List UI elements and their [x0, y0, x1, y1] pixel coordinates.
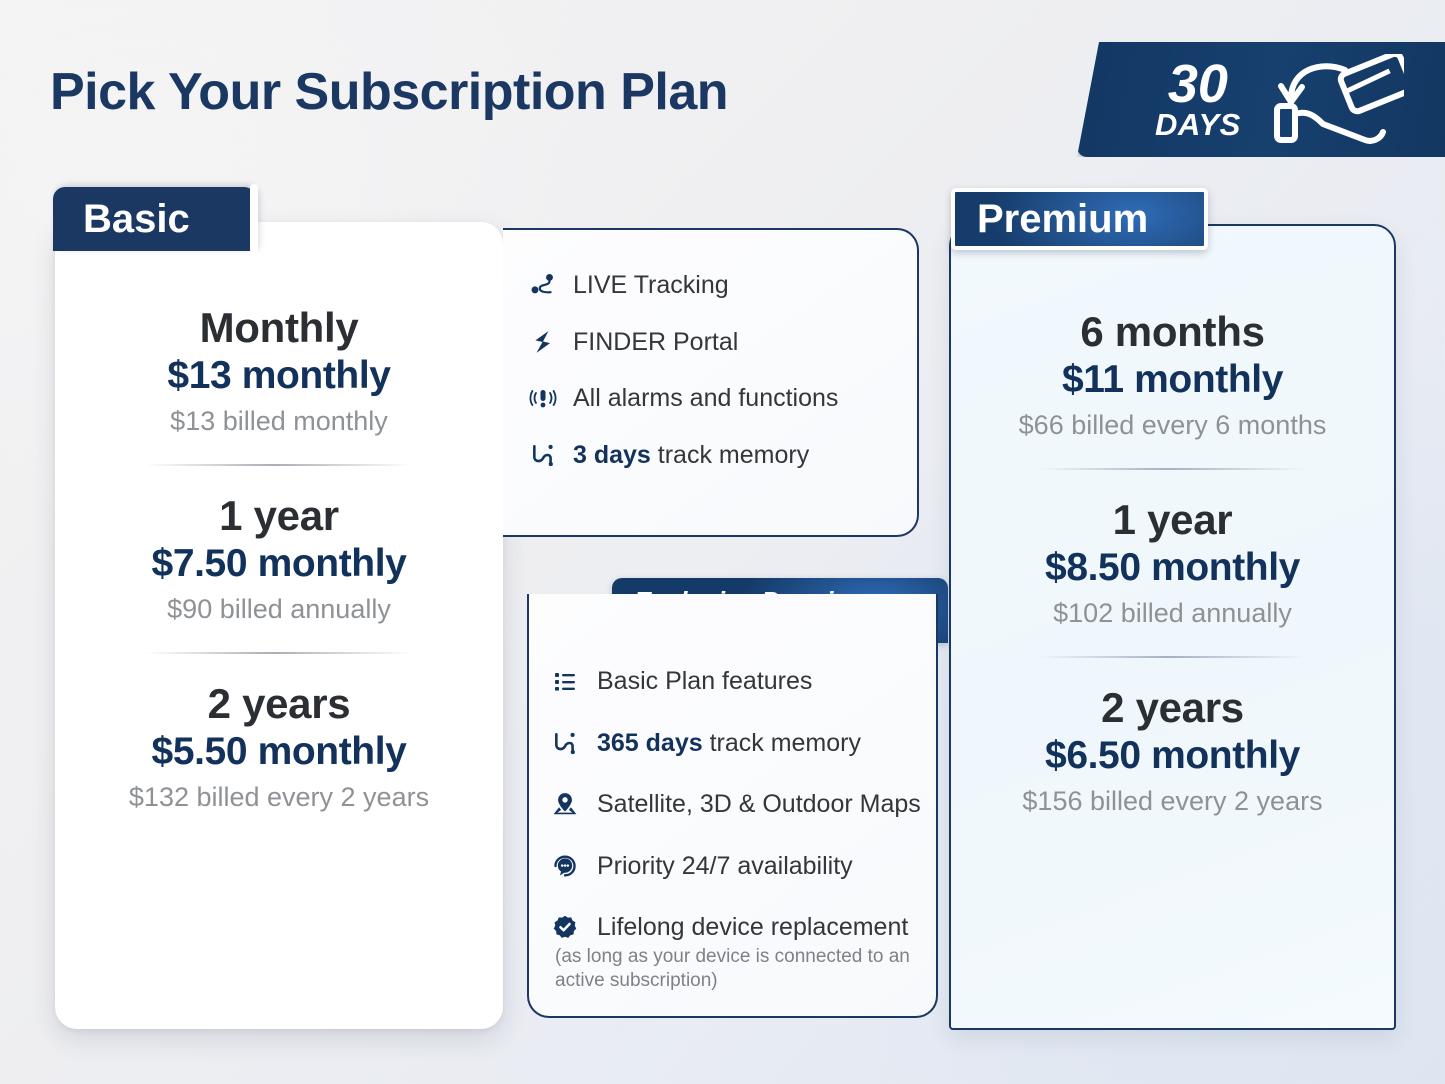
- tier-term: Monthly: [73, 304, 485, 352]
- feature-label: All alarms and functions: [573, 383, 838, 414]
- feature-label: Satellite, 3D & Outdoor Maps: [597, 789, 921, 820]
- basic-tier-1-year[interactable]: 1 year $7.50 monthly $90 billed annually: [55, 492, 503, 626]
- tier-price: $11 monthly: [969, 356, 1376, 404]
- tier-billed-note: $102 billed annually: [969, 597, 1376, 629]
- tier-price: $5.50 monthly: [73, 728, 485, 776]
- premium-tier-2-years[interactable]: 2 years $6.50 monthly $156 billed every …: [951, 684, 1394, 818]
- basic-tier-list: Monthly $13 monthly $13 billed monthly 1…: [55, 304, 503, 814]
- feature-lifelong-replacement: Lifelong device replacement: [551, 912, 936, 943]
- money-back-guarantee-badge: 30 DAYS: [1077, 42, 1445, 157]
- basic-plan-tab[interactable]: Basic: [53, 187, 256, 251]
- tier-billed-note: $90 billed annually: [73, 593, 485, 625]
- tier-price: $7.50 monthly: [73, 540, 485, 588]
- premium-tier-list: 6 months $11 monthly $66 billed every 6 …: [951, 308, 1394, 818]
- lifelong-replacement-footnote: (as long as your device is connected to …: [551, 945, 936, 994]
- guarantee-text: 30 DAYS: [1155, 59, 1241, 140]
- tier-price: $13 monthly: [73, 352, 485, 400]
- track-memory-icon: [529, 441, 557, 469]
- feature-label: 365 days track memory: [597, 728, 861, 759]
- tier-divider: [1039, 468, 1307, 470]
- tier-price: $8.50 monthly: [969, 544, 1376, 592]
- premium-tier-6-months[interactable]: 6 months $11 monthly $66 billed every 6 …: [951, 308, 1394, 442]
- tier-price: $6.50 monthly: [969, 732, 1376, 780]
- basic-plan-label: Basic: [83, 197, 190, 242]
- basic-plan-card[interactable]: Monthly $13 monthly $13 billed monthly 1…: [55, 222, 503, 1029]
- feature-label: Basic Plan features: [597, 666, 812, 697]
- tier-billed-note: $13 billed monthly: [73, 405, 485, 437]
- track-memory-icon: [551, 729, 579, 757]
- premium-plan-label: Premium: [977, 197, 1148, 242]
- live-tracking-route-icon: [529, 271, 557, 299]
- tier-term: 1 year: [969, 496, 1376, 544]
- feature-rest: track memory: [703, 729, 861, 757]
- money-back-hand-card-icon: [1269, 54, 1404, 146]
- tier-billed-note: $132 billed every 2 years: [73, 781, 485, 813]
- guarantee-number: 30: [1168, 59, 1228, 110]
- premium-plan-tab[interactable]: Premium: [951, 188, 1208, 250]
- feature-highlight: 3 days: [573, 441, 651, 469]
- premium-plan-card[interactable]: 6 months $11 monthly $66 billed every 6 …: [949, 224, 1396, 1030]
- tier-divider: [1039, 656, 1307, 658]
- page-title: Pick Your Subscription Plan: [50, 62, 728, 122]
- feature-label: FINDER Portal: [573, 327, 738, 358]
- tier-divider: [145, 464, 413, 466]
- feature-label: 3 days track memory: [573, 440, 809, 471]
- tier-billed-note: $66 billed every 6 months: [969, 409, 1376, 441]
- tier-divider: [145, 652, 413, 654]
- tier-term: 2 years: [969, 684, 1376, 732]
- feature-label: Priority 24/7 availability: [597, 851, 853, 882]
- feature-live-tracking: LIVE Tracking: [529, 270, 917, 301]
- finder-bolt-icon: [529, 328, 557, 356]
- alarm-siren-icon: [529, 384, 557, 412]
- premium-features-panel: Basic Plan features 365 days track memor…: [527, 594, 938, 1018]
- feature-finder-portal: FINDER Portal: [529, 327, 917, 358]
- basic-features-panel: LIVE Tracking FINDER Portal All alarms a…: [503, 228, 919, 537]
- feature-highlight: 365 days: [597, 729, 703, 757]
- verified-badge-icon: [551, 913, 579, 941]
- tier-term: 1 year: [73, 492, 485, 540]
- guarantee-unit: DAYS: [1155, 110, 1241, 139]
- feature-track-memory: 3 days track memory: [529, 440, 917, 471]
- feature-label: Lifelong device replacement: [597, 912, 908, 943]
- feature-rest: track memory: [651, 441, 809, 469]
- feature-priority-availability: Priority 24/7 availability: [551, 851, 936, 882]
- tier-term: 6 months: [969, 308, 1376, 356]
- feature-label: LIVE Tracking: [573, 270, 729, 301]
- map-pin-icon: [551, 790, 579, 818]
- feature-365-track-memory: 365 days track memory: [551, 728, 936, 759]
- tier-term: 2 years: [73, 680, 485, 728]
- basic-tier-2-years[interactable]: 2 years $5.50 monthly $132 billed every …: [55, 680, 503, 814]
- list-bullets-icon: [551, 667, 579, 695]
- feature-basic-plan-features: Basic Plan features: [551, 666, 936, 697]
- feature-all-alarms: All alarms and functions: [529, 383, 917, 414]
- feature-maps: Satellite, 3D & Outdoor Maps: [551, 789, 936, 820]
- tier-billed-note: $156 billed every 2 years: [969, 785, 1376, 817]
- basic-tier-monthly[interactable]: Monthly $13 monthly $13 billed monthly: [55, 304, 503, 438]
- premium-tier-1-year[interactable]: 1 year $8.50 monthly $102 billed annuall…: [951, 496, 1394, 630]
- support-chat-icon: [551, 852, 579, 880]
